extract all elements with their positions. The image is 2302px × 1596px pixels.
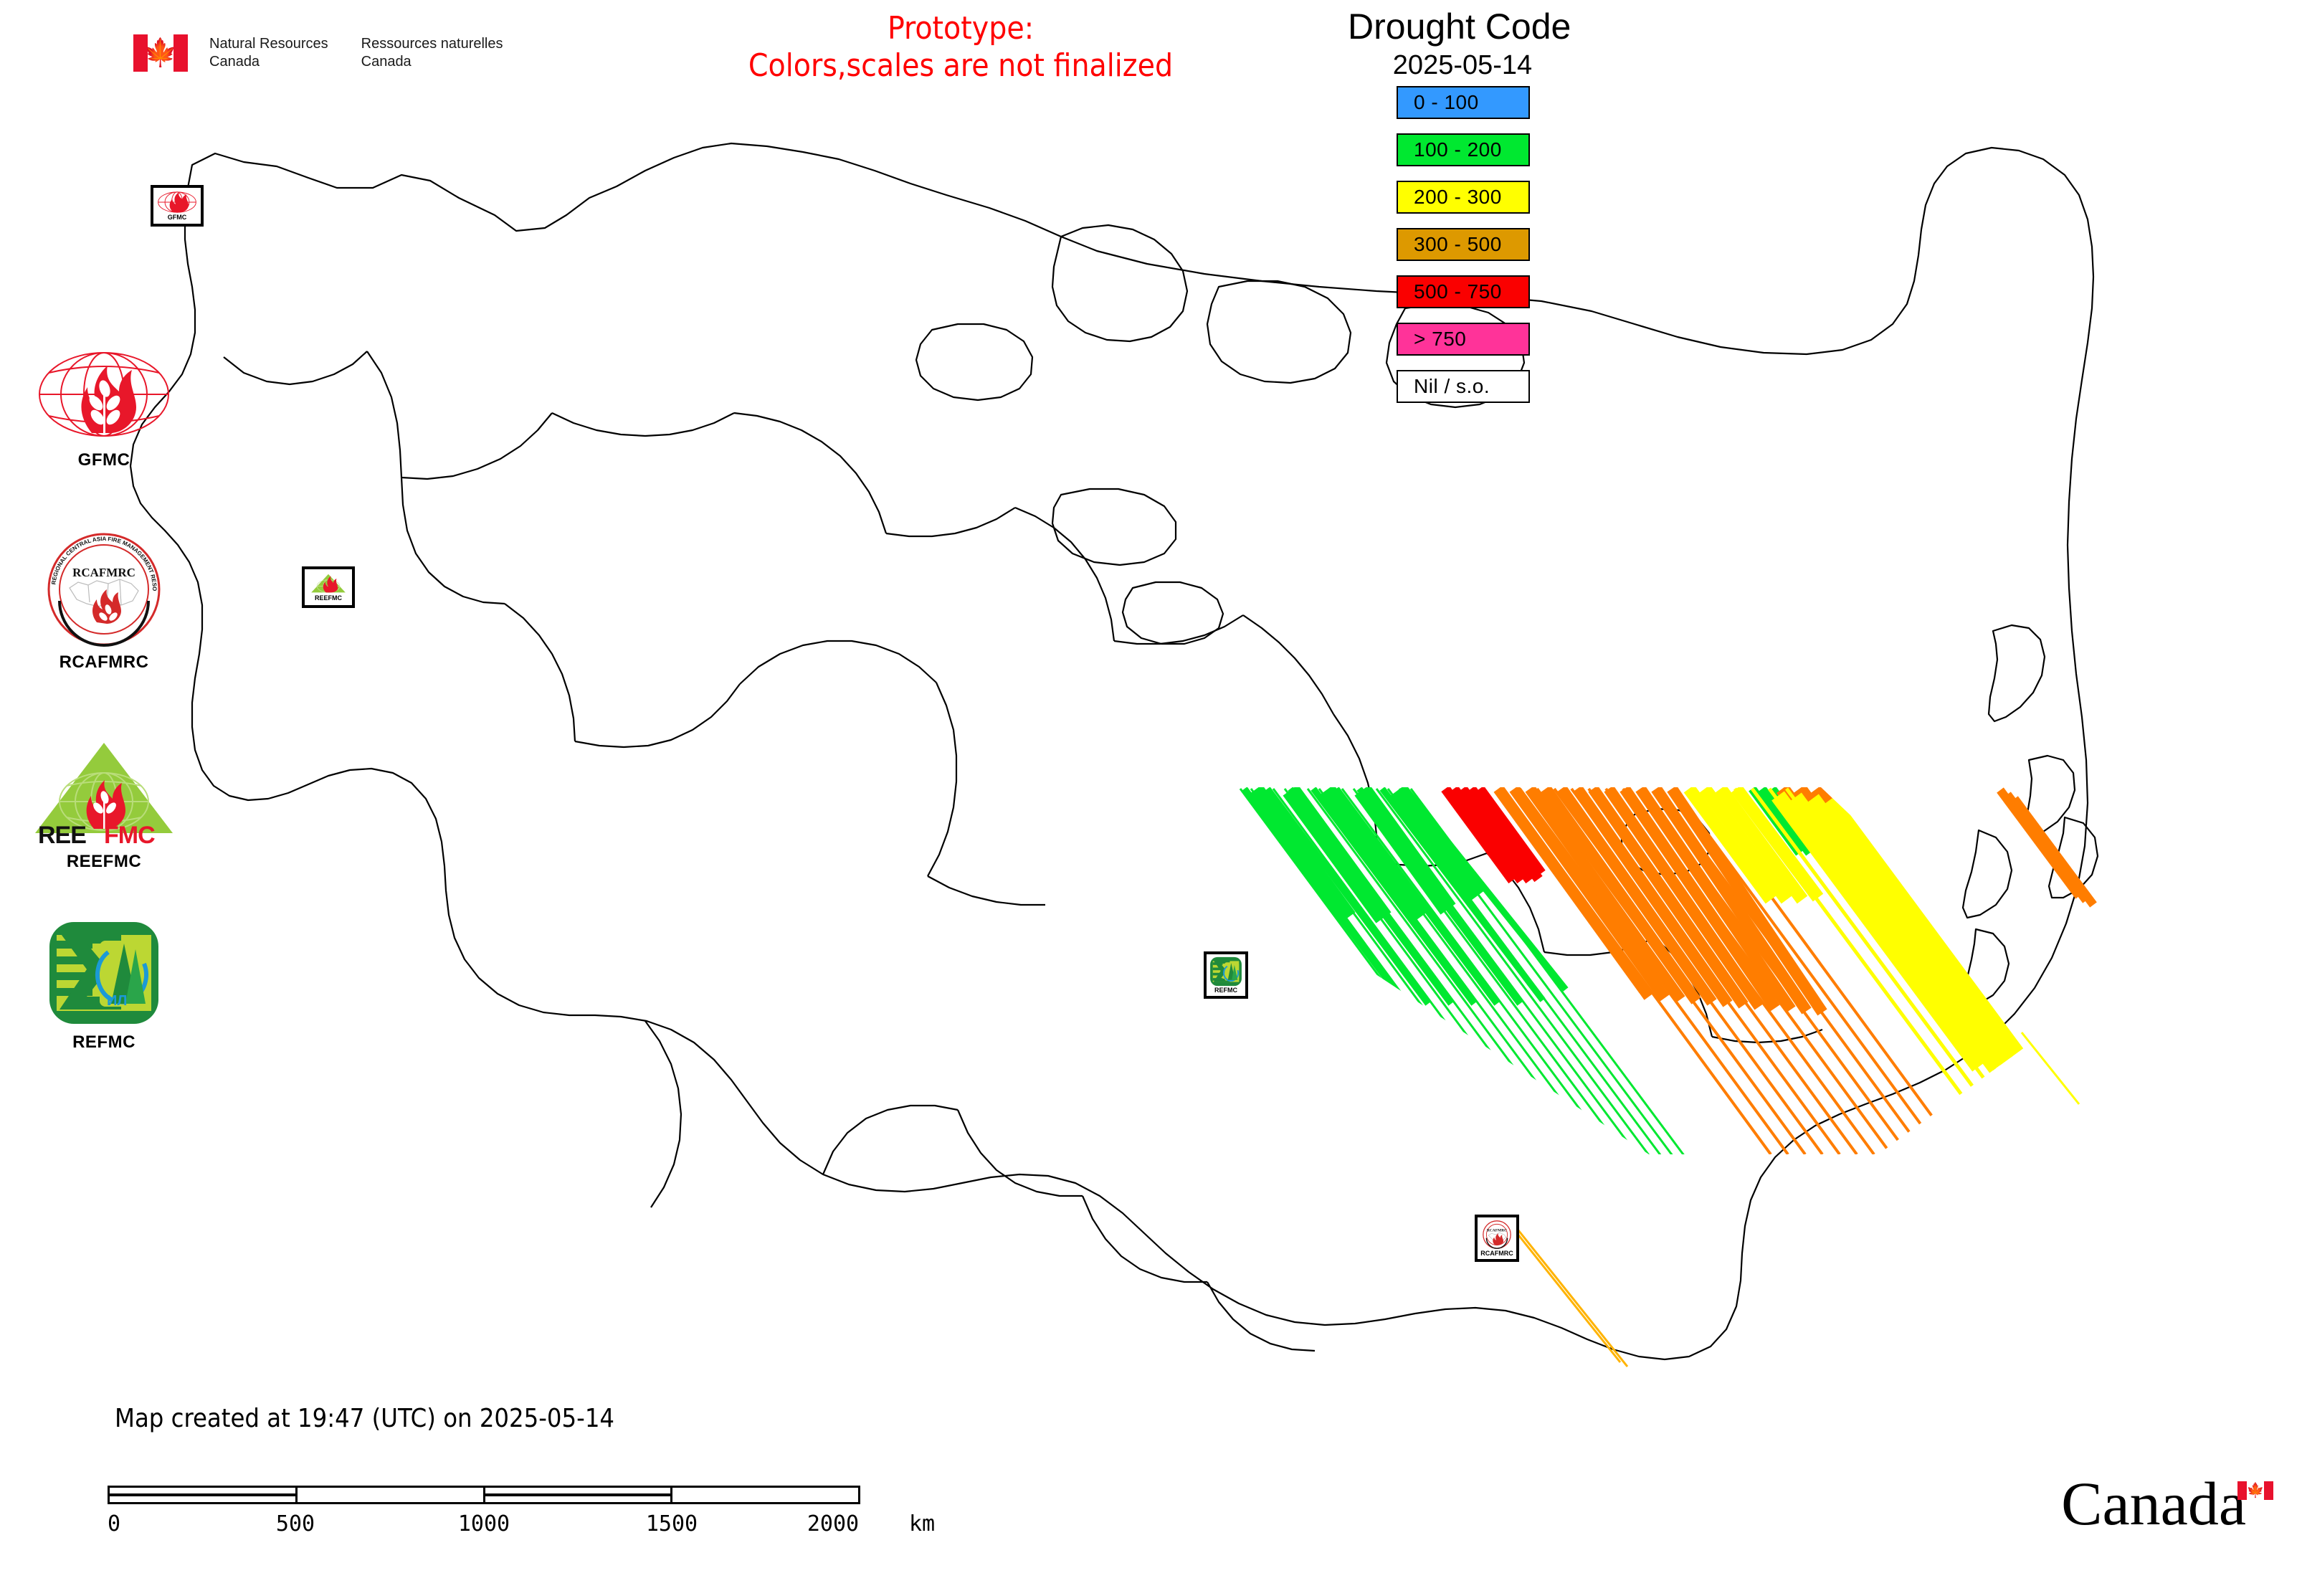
map-canvas [0, 0, 2302, 1596]
canada-wordmark-text: Canada [2061, 1473, 2246, 1534]
scale-tick-3: 1500 [646, 1511, 698, 1536]
scale-bar-segment-2 [485, 1488, 673, 1502]
canada-flag-icon: 🍁 [133, 34, 188, 72]
partner-caption-refmc: REFMC [22, 1032, 186, 1053]
scale-tick-1: 500 [276, 1511, 315, 1536]
partner-logo-reefmc: REE FMC REEFMC [22, 738, 186, 872]
legend-swatch-label-0: 0 - 100 [1398, 91, 1479, 114]
legend-swatch-label-2: 200 - 300 [1398, 186, 1502, 209]
agency-name-fr: Ressources naturelles Canada [361, 35, 503, 71]
scale-bar: 0 500 1000 1500 2000 km [108, 1486, 860, 1546]
prototype-notice-line1: Prototype: [660, 10, 1262, 47]
legend-swatch-label-1: 100 - 200 [1398, 138, 1502, 161]
scale-tick-4: 2000 [807, 1511, 859, 1536]
svg-text:RCAFMRC: RCAFMRC [1487, 1228, 1507, 1232]
map-marker-refmc[interactable]: REFMC [1204, 951, 1248, 999]
agency-name-en: Natural Resources Canada [209, 35, 328, 71]
svg-text:RCAFMRC: RCAFMRC [72, 566, 135, 579]
gfmc-globe-flame-icon [156, 191, 198, 214]
scale-bar-segment-1 [298, 1488, 485, 1502]
reefmc-mark-text-red: FMC [104, 822, 155, 846]
rcafmrc-seal-icon: RCAFMRC [1480, 1220, 1513, 1250]
prototype-notice-line2: Colors,scales are not finalized [660, 47, 1262, 85]
scale-tick-2: 1000 [458, 1511, 510, 1536]
scale-unit-label: km [909, 1511, 935, 1536]
legend-swatch-4[interactable]: 500 - 750 [1397, 275, 1530, 308]
legend-date: 2025-05-14 [1333, 47, 1642, 83]
partner-caption-rcafmrc: RCAFMRC [22, 652, 186, 673]
legend-swatch-list: 0 - 100 100 - 200 200 - 300 300 - 500 50… [1333, 86, 1642, 403]
map-marker-caption-reefmc: REEFMC [315, 594, 342, 602]
map-marker-caption-refmc: REFMC [1214, 987, 1237, 994]
rcafmrc-seal-icon: RCAFMRC REGIONAL CENTRAL ASIA FIRE MANAG… [47, 532, 161, 647]
scale-bar-segment-0 [110, 1488, 298, 1502]
reefmc-triangle-flame-icon [308, 573, 349, 594]
map-marker-reefmc[interactable]: REEFMC [302, 566, 355, 608]
nrcan-wordmark: 🍁 Natural Resources Canada Ressources na… [133, 26, 607, 80]
map-created-timestamp: Map created at 19:47 (UTC) on 2025-05-14 [115, 1404, 614, 1433]
legend-swatch-3[interactable]: 300 - 500 [1397, 228, 1530, 261]
scale-bar-segment-3 [672, 1488, 858, 1502]
legend-swatch-label-3: 300 - 500 [1398, 233, 1502, 256]
canada-flag-icon: 🍁 [2237, 1481, 2273, 1500]
map-marker-rcafmrc[interactable]: RCAFMRC RCAFMRC [1475, 1215, 1519, 1262]
refmc-inner-text: ИЛ [107, 993, 127, 1009]
refmc-sigma-tree-icon: ИЛ [47, 919, 161, 1027]
partner-logo-gfmc: GFMC [22, 344, 186, 470]
scale-bar-ticks: 0 500 1000 1500 2000 km [108, 1511, 860, 1546]
partner-caption-gfmc: GFMC [22, 450, 186, 470]
map-marker-caption-rcafmrc: RCAFMRC [1480, 1250, 1513, 1257]
legend-swatch-5[interactable]: > 750 [1397, 323, 1530, 356]
legend-swatch-2[interactable]: 200 - 300 [1397, 181, 1530, 214]
legend-swatch-label-5: > 750 [1398, 328, 1466, 351]
gfmc-globe-flame-icon [36, 344, 172, 445]
canada-wordmark: Canada 🍁 [2061, 1455, 2273, 1534]
legend-swatch-1[interactable]: 100 - 200 [1397, 133, 1530, 166]
scale-bar-graphic [108, 1486, 860, 1504]
reefmc-triangle-flame-icon: REE FMC [32, 738, 176, 846]
legend: Drought Code 2025-05-14 0 - 100 100 - 20… [1333, 6, 1642, 417]
reefmc-mark-text-dark: REE [38, 822, 86, 846]
legend-title: Drought Code [1333, 6, 1642, 47]
partner-logo-rcafmrc: RCAFMRC REGIONAL CENTRAL ASIA FIRE MANAG… [22, 532, 186, 673]
map-marker-caption-gfmc: GFMC [168, 214, 187, 221]
map-marker-gfmc[interactable]: GFMC [151, 185, 204, 227]
drought-code-streaks [1240, 789, 2093, 1367]
partner-caption-reefmc: REEFMC [22, 852, 186, 872]
prototype-notice: Prototype: Colors,scales are not finaliz… [660, 10, 1262, 85]
scale-tick-0: 0 [108, 1511, 120, 1536]
legend-swatch-label-6: Nil / s.o. [1398, 375, 1490, 398]
refmc-sigma-tree-icon [1209, 956, 1242, 987]
map-landmass-outlines [130, 143, 2098, 1359]
legend-swatch-label-4: 500 - 750 [1398, 280, 1502, 303]
legend-swatch-6[interactable]: Nil / s.o. [1397, 370, 1530, 403]
legend-swatch-0[interactable]: 0 - 100 [1397, 86, 1530, 119]
partner-logo-refmc: ИЛ REFMC [22, 919, 186, 1053]
